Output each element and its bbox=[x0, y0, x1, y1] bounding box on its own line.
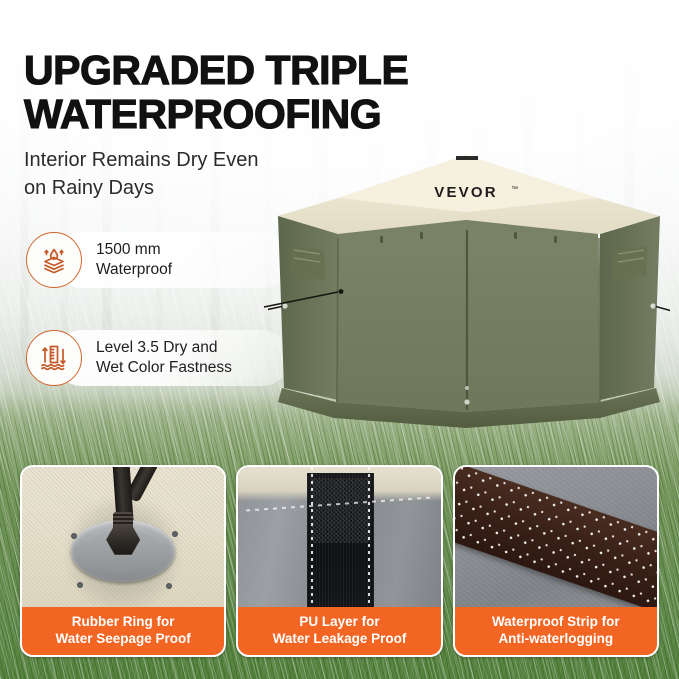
grommet-rivet bbox=[166, 583, 172, 589]
caption-line-2: Anti-waterlogging bbox=[459, 630, 653, 647]
badge-label: 1500 mm Waterproof bbox=[96, 240, 172, 280]
stitch-dots-row-2 bbox=[455, 467, 657, 607]
headline-line-2: WATERPROOFING bbox=[24, 92, 584, 136]
badge-icon-circle bbox=[26, 330, 82, 386]
pu-layer-seam-photo bbox=[238, 467, 440, 607]
caption-line-1: PU Layer for bbox=[242, 613, 436, 630]
card-caption: PU Layer for Water Leakage Proof bbox=[238, 607, 440, 655]
grommet-rivet bbox=[77, 582, 83, 588]
callout-leader-line bbox=[262, 289, 348, 311]
waterproof-seam-strip bbox=[455, 467, 657, 607]
feature-badge-color-fastness: Level 3.5 Dry and Wet Color Fastness bbox=[26, 330, 232, 386]
badge-label-line-1: 1500 mm bbox=[96, 240, 172, 260]
trademark-symbol: ™ bbox=[511, 186, 518, 193]
detail-card-pu-layer: PU Layer for Water Leakage Proof bbox=[236, 465, 442, 657]
badge-label: Level 3.5 Dry and Wet Color Fastness bbox=[96, 338, 232, 378]
card-caption: Waterproof Strip for Anti-waterlogging bbox=[455, 607, 657, 655]
caption-line-1: Rubber Ring for bbox=[26, 613, 220, 630]
badge-label-line-2: Waterproof bbox=[96, 260, 172, 280]
waterproof-layers-icon bbox=[36, 242, 72, 278]
rubber-ring-grommet-photo bbox=[22, 467, 224, 607]
feature-badge-waterproof: 1500 mm Waterproof bbox=[26, 232, 172, 288]
caption-line-2: Water Seepage Proof bbox=[26, 630, 220, 647]
color-fastness-gauge-icon bbox=[36, 340, 72, 376]
caption-line-2: Water Leakage Proof bbox=[242, 630, 436, 647]
grommet-rivet bbox=[71, 533, 77, 539]
waterproof-strip-photo bbox=[455, 467, 657, 607]
stitch-line bbox=[368, 467, 370, 607]
grommet-rivet bbox=[172, 531, 178, 537]
detail-card-waterproof-strip: Waterproof Strip for Anti-waterlogging bbox=[453, 465, 659, 657]
badge-label-line-1: Level 3.5 Dry and bbox=[96, 338, 232, 358]
detail-card-row: Rubber Ring for Water Seepage Proof PU L… bbox=[20, 465, 659, 657]
badge-icon-circle bbox=[26, 232, 82, 288]
detail-card-rubber-ring: Rubber Ring for Water Seepage Proof bbox=[20, 465, 226, 657]
stitch-line bbox=[311, 467, 313, 607]
brand-logo-text: VEVOR bbox=[434, 184, 498, 201]
page-title: UPGRADED TRIPLE WATERPROOFING bbox=[24, 48, 584, 136]
headline-line-1: UPGRADED TRIPLE bbox=[24, 48, 584, 92]
badge-label-line-2: Wet Color Fastness bbox=[96, 358, 232, 378]
caption-line-1: Waterproof Strip for bbox=[459, 613, 653, 630]
card-caption: Rubber Ring for Water Seepage Proof bbox=[22, 607, 224, 655]
mesh-texture bbox=[311, 478, 370, 542]
product-feature-poster: VEVOR ™ UPGRADED TRIPLE WATERPROOFING In… bbox=[0, 0, 679, 679]
